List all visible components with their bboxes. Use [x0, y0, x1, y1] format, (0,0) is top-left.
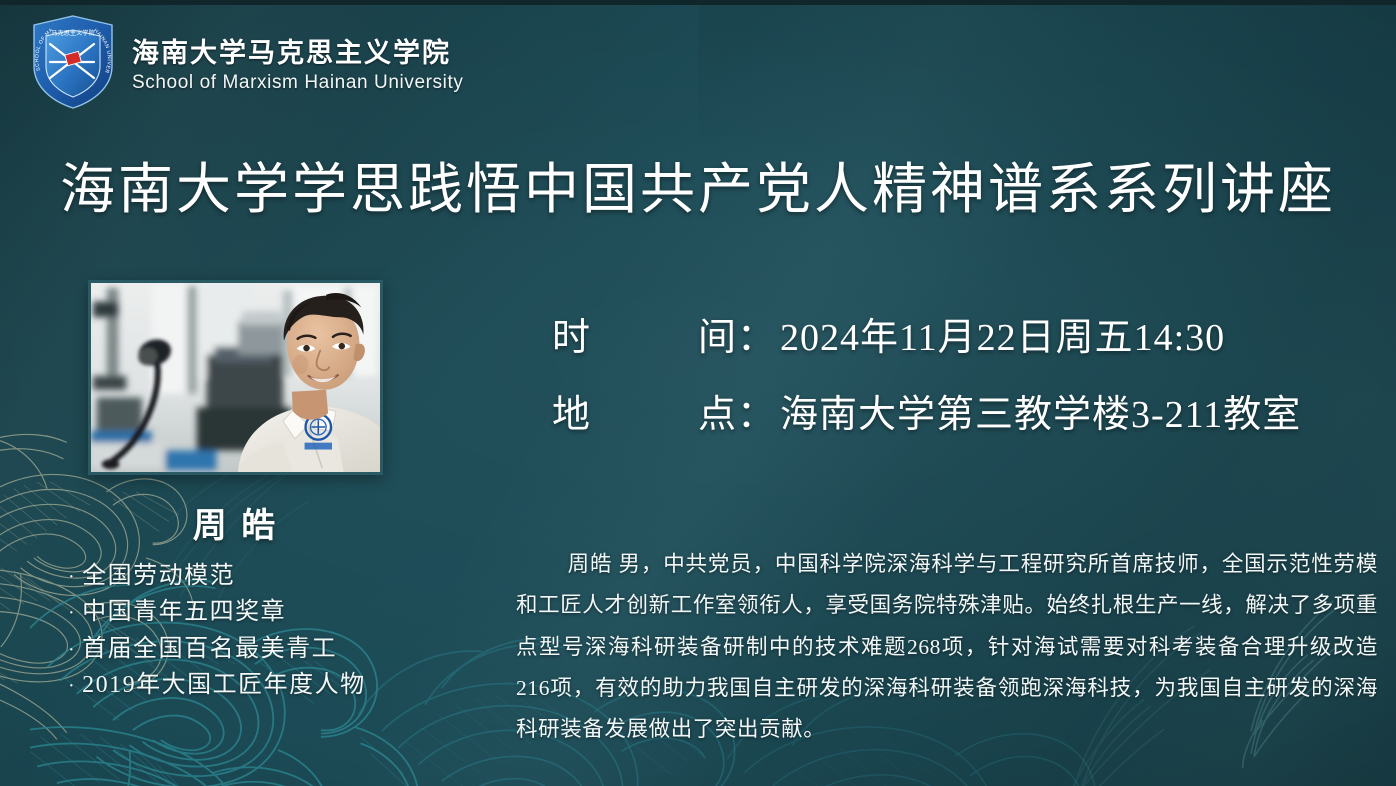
bullet-dot-icon: · — [68, 635, 76, 665]
list-item: · 首届全国百名最美青工 — [68, 631, 366, 667]
shield-emblem-icon: SCHOOL OF MARXISM HAINAN UNIVERSITY 马克思主… — [30, 14, 116, 110]
school-header: SCHOOL OF MARXISM HAINAN UNIVERSITY 马克思主… — [30, 14, 463, 110]
top-edge-band — [0, 0, 1396, 5]
list-item: · 2019年大国工匠年度人物 — [68, 667, 366, 703]
org-name-en: School of Marxism Hainan University — [132, 72, 463, 94]
event-time-label-char2: 间 — [698, 306, 737, 361]
event-place-label-char2: 点 — [698, 383, 737, 438]
bullet-dot-icon: · — [68, 598, 76, 628]
org-name-cn: 海南大学马克思主义学院 — [132, 31, 463, 70]
bullet-dot-icon: · — [68, 671, 76, 701]
speaker-bio: 周皓 男，中共党员，中国科学院深海科学与工程研究所首席技师，全国示范性劳模和工匠… — [516, 544, 1378, 750]
event-time-row: 时 间 ： 2024年11月22日周五14:30 — [552, 306, 1301, 361]
event-time-colon: ： — [737, 306, 776, 361]
event-place-label-char1: 地 — [552, 383, 591, 438]
event-time-label-char1: 时 — [552, 306, 591, 361]
honor-label: 首届全国百名最美青工 — [82, 631, 337, 667]
bullet-dot-icon: · — [68, 562, 76, 592]
svg-text:马克思主义学院: 马克思主义学院 — [51, 29, 94, 37]
portrait-illustration — [91, 283, 380, 472]
list-item: · 全国劳动模范 — [68, 558, 366, 594]
event-place-colon: ： — [737, 383, 776, 438]
honor-label: 中国青年五四奖章 — [82, 594, 286, 630]
lecture-poster: SCHOOL OF MARXISM HAINAN UNIVERSITY 马克思主… — [0, 0, 1396, 786]
speaker-name: 周 皓 — [88, 498, 383, 547]
event-time-label: 时 间 — [552, 306, 737, 361]
event-details: 时 间 ： 2024年11月22日周五14:30 地 点 ： 海南大学第三教学楼… — [552, 306, 1301, 460]
event-place-value: 海南大学第三教学楼3-211教室 — [780, 383, 1301, 438]
list-item: · 中国青年五四奖章 — [68, 594, 366, 630]
honor-label: 2019年大国工匠年度人物 — [82, 667, 366, 703]
event-place-row: 地 点 ： 海南大学第三教学楼3-211教室 — [552, 383, 1301, 438]
event-time-value: 2024年11月22日周五14:30 — [780, 306, 1225, 361]
speaker-photo — [88, 280, 383, 475]
event-place-label: 地 点 — [552, 383, 737, 438]
page-title: 海南大学学思践悟中国共产党人精神谱系系列讲座 — [0, 144, 1396, 224]
honor-label: 全国劳动模范 — [82, 558, 235, 594]
honors-list: · 全国劳动模范 · 中国青年五四奖章 · 首届全国百名最美青工 · 2019年… — [68, 558, 366, 704]
